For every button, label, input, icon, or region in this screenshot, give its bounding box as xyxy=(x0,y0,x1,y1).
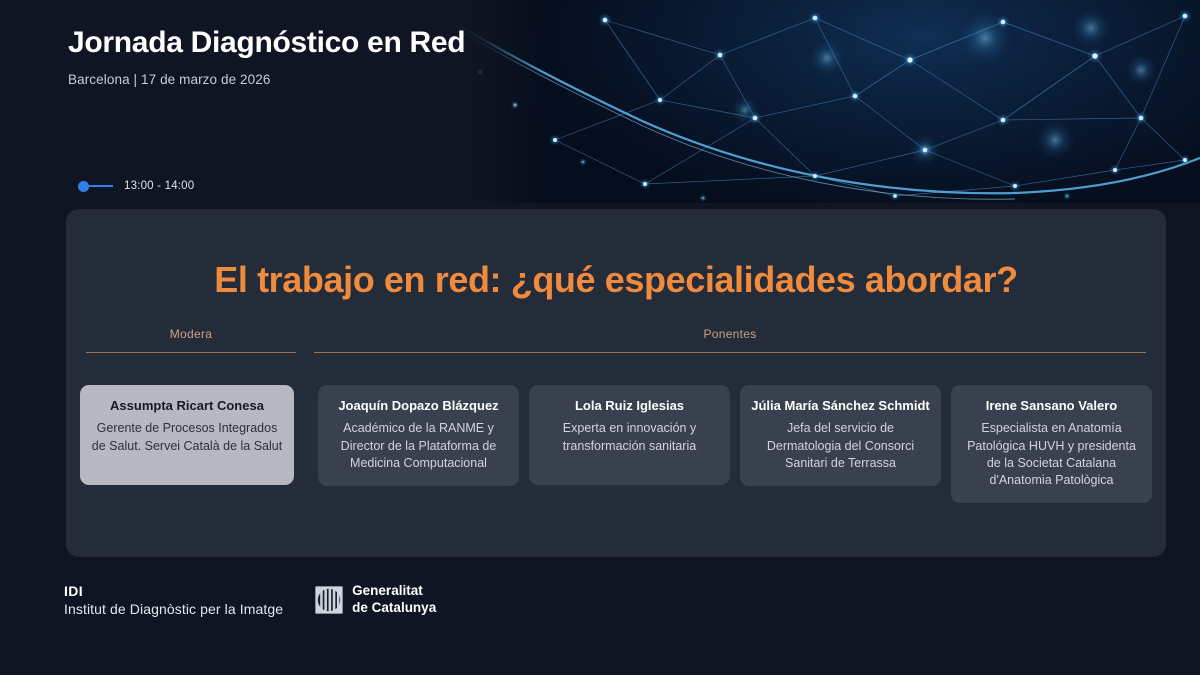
speaker-card[interactable]: Júlia María Sánchez Schmidt Jefa del ser… xyxy=(740,385,941,486)
person-name: Joaquín Dopazo Blázquez xyxy=(329,398,508,414)
person-role: Especialista en Anatomía Patológica HUVH… xyxy=(962,420,1141,489)
session-time-badge: 13:00 - 14:00 xyxy=(78,180,194,192)
generalitat-shield-icon xyxy=(315,586,343,614)
generalitat-text: Generalitat de Catalunya xyxy=(352,583,436,617)
person-cards-row: Assumpta Ricart Conesa Gerente de Proces… xyxy=(80,385,1152,503)
person-role: Jefa del servicio de Dermatologia del Co… xyxy=(751,420,930,472)
speakers-label: Ponentes xyxy=(314,327,1146,352)
session-panel: El trabajo en red: ¿qué especialidades a… xyxy=(66,209,1166,557)
speaker-card[interactable]: Irene Sansano Valero Especialista en Ana… xyxy=(951,385,1152,503)
session-title: El trabajo en red: ¿qué especialidades a… xyxy=(66,259,1166,301)
event-location-date: Barcelona | 17 de marzo de 2026 xyxy=(68,72,465,87)
moderator-rule xyxy=(86,352,296,353)
page-title: Jornada Diagnóstico en Red xyxy=(68,26,465,61)
generalitat-line2: de Catalunya xyxy=(352,600,436,617)
person-name: Irene Sansano Valero xyxy=(962,398,1141,414)
person-role: Experta en innovación y transformación s… xyxy=(540,420,719,455)
person-name: Júlia María Sánchez Schmidt xyxy=(751,398,930,414)
header: Jornada Diagnóstico en Red Barcelona | 1… xyxy=(68,26,465,87)
moderator-role-group: Modera xyxy=(86,327,296,353)
network-graphic xyxy=(455,0,1200,203)
connector-line-icon xyxy=(89,185,113,187)
generalitat-line1: Generalitat xyxy=(352,583,436,600)
person-role: Académico de la RANME y Director de la P… xyxy=(329,420,508,472)
idi-full-name: Institut de Diagnòstic per la Imatge xyxy=(64,600,283,618)
bullet-dot-icon xyxy=(78,181,89,192)
idi-logo: IDI Institut de Diagnòstic per la Imatge xyxy=(64,582,283,618)
speakers-rule xyxy=(314,352,1146,353)
generalitat-logo: Generalitat de Catalunya xyxy=(315,583,436,617)
role-headers: Modera Ponentes xyxy=(86,327,1146,353)
moderator-card[interactable]: Assumpta Ricart Conesa Gerente de Proces… xyxy=(80,385,294,485)
session-time-text: 13:00 - 14:00 xyxy=(124,180,194,192)
network-hero-image xyxy=(455,0,1200,203)
idi-acronym: IDI xyxy=(64,582,283,600)
person-name: Assumpta Ricart Conesa xyxy=(91,398,283,414)
speaker-card[interactable]: Joaquín Dopazo Blázquez Académico de la … xyxy=(318,385,519,486)
person-role: Gerente de Procesos Integrados de Salut.… xyxy=(91,420,283,455)
moderator-label: Modera xyxy=(86,327,296,352)
footer: IDI Institut de Diagnòstic per la Imatge… xyxy=(64,582,436,618)
person-name: Lola Ruiz Iglesias xyxy=(540,398,719,414)
speakers-role-group: Ponentes xyxy=(314,327,1146,353)
speaker-card[interactable]: Lola Ruiz Iglesias Experta en innovación… xyxy=(529,385,730,485)
